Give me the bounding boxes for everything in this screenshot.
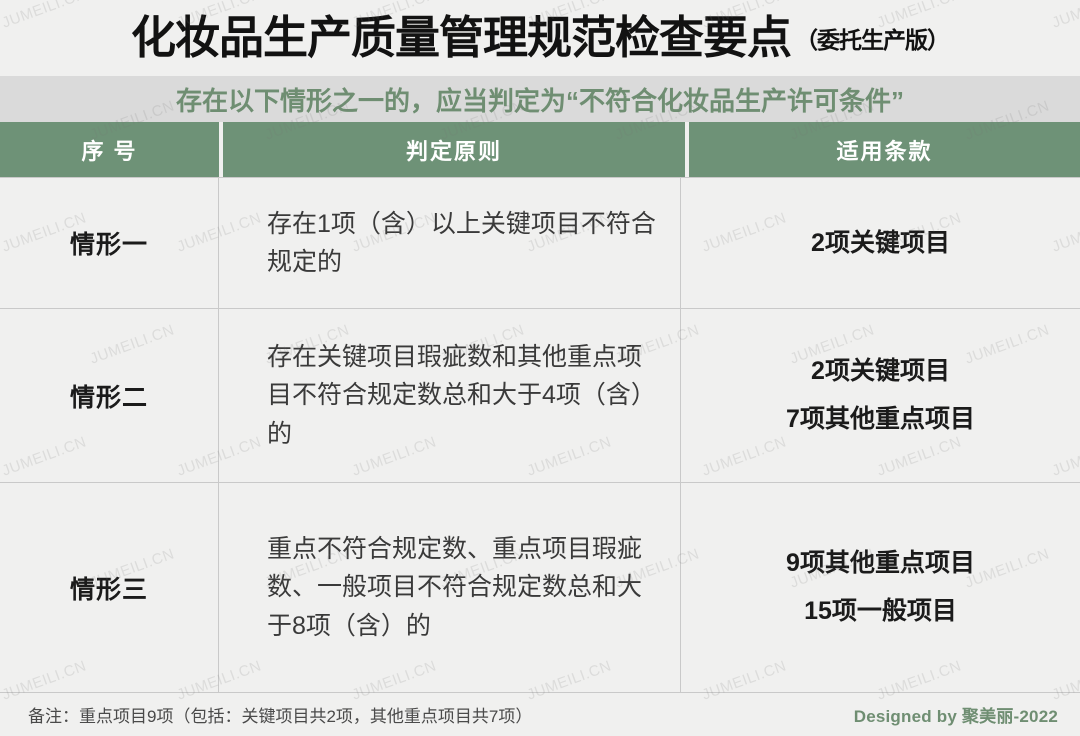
table-header-row: 序 号 判定原则 适用条款 <box>0 122 1080 177</box>
subtitle-text: 存在以下情形之一的，应当判定为“不符合化妆品生产许可条件” <box>176 81 904 118</box>
cell-sequence: 情形二 <box>0 309 219 482</box>
footer-bar: 备注：重点项目9项（包括：关键项目共2项，其他重点项目共7项） Designed… <box>0 693 1080 736</box>
page-title: 化妆品生产质量管理规范检查要点 <box>131 15 791 60</box>
table-row: 情形二 存在关键项目瑕疵数和其他重点项目不符合规定数总和大于4项（含）的 2项关… <box>0 308 1080 482</box>
clause-line: 2项关键项目 <box>811 348 950 396</box>
cell-principle: 存在1项（含）以上关键项目不符合规定的 <box>219 178 681 308</box>
cell-clause: 2项关键项目 7项其他重点项目 <box>681 309 1080 482</box>
page-title-suffix: （委托生产版） <box>795 21 949 55</box>
cell-clause: 2项关键项目 <box>681 178 1080 308</box>
table-row: 情形一 存在1项（含）以上关键项目不符合规定的 2项关键项目 <box>0 177 1080 308</box>
column-header-sequence: 序 号 <box>0 122 219 177</box>
subtitle-band: 存在以下情形之一的，应当判定为“不符合化妆品生产许可条件” <box>0 76 1080 123</box>
cell-sequence: 情形一 <box>0 178 219 308</box>
cell-clause: 9项其他重点项目 15项一般项目 <box>681 483 1080 692</box>
cell-principle: 存在关键项目瑕疵数和其他重点项目不符合规定数总和大于4项（含）的 <box>219 309 681 482</box>
footer-note: 备注：重点项目9项（包括：关键项目共2项，其他重点项目共7项） <box>28 702 532 727</box>
clause-line: 2项关键项目 <box>811 220 950 268</box>
cell-principle: 重点不符合规定数、重点项目瑕疵数、一般项目不符合规定数总和大于8项（含）的 <box>219 483 681 692</box>
title-bar: 化妆品生产质量管理规范检查要点 （委托生产版） <box>0 0 1080 76</box>
column-header-clause: 适用条款 <box>689 122 1080 177</box>
table-row: 情形三 重点不符合规定数、重点项目瑕疵数、一般项目不符合规定数总和大于8项（含）… <box>0 482 1080 692</box>
column-header-principle: 判定原则 <box>223 122 685 177</box>
cell-sequence: 情形三 <box>0 483 219 692</box>
clause-line: 15项一般项目 <box>804 588 957 636</box>
clause-line: 9项其他重点项目 <box>786 540 975 588</box>
criteria-table: 序 号 判定原则 适用条款 情形一 存在1项（含）以上关键项目不符合规定的 2项… <box>0 122 1080 693</box>
clause-line: 7项其他重点项目 <box>786 396 975 444</box>
footer-credit: Designed by 聚美丽-2022 <box>854 702 1058 727</box>
infographic-page: 化妆品生产质量管理规范检查要点 （委托生产版） 存在以下情形之一的，应当判定为“… <box>0 0 1080 736</box>
